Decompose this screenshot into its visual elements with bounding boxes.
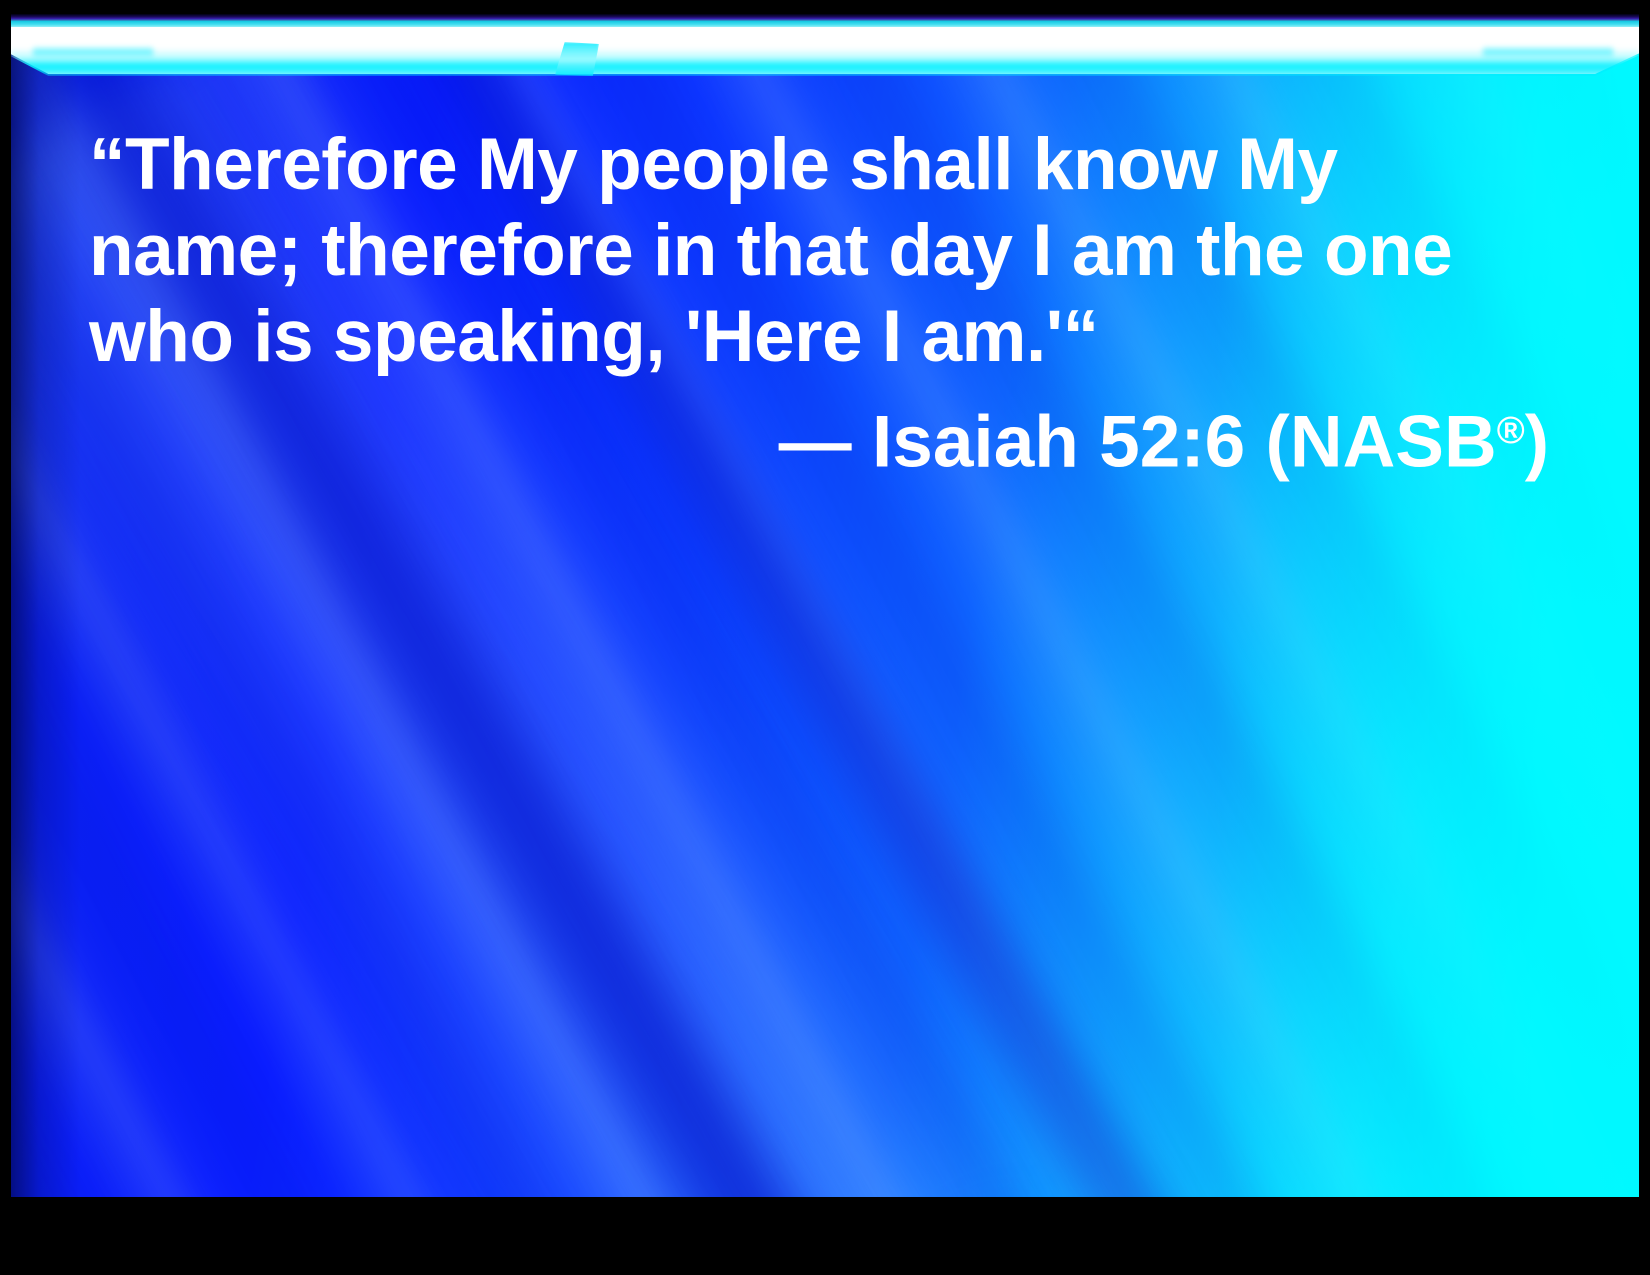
verse-line-1: “Therefore My people shall know My xyxy=(89,122,1549,208)
background-left-shade xyxy=(11,14,81,1197)
frame-left-edge xyxy=(0,0,11,1275)
top-bar-wisp-right xyxy=(1483,48,1613,56)
top-bar-cyan-underglow xyxy=(11,27,1639,76)
top-bar-wisp-left xyxy=(33,48,153,56)
frame-bottom-edge xyxy=(0,1197,1650,1275)
top-glow-bar xyxy=(11,14,1639,86)
verse-slide: “Therefore My people shall know My name;… xyxy=(0,0,1650,1275)
verse-text-block: “Therefore My people shall know My name;… xyxy=(89,122,1549,486)
attribution-dash: — xyxy=(779,402,872,483)
verse-line-3: who is speaking, 'Here I am.'“ xyxy=(89,294,1549,380)
artwork-panel: “Therefore My people shall know My name;… xyxy=(11,14,1639,1197)
registered-trademark-icon: ® xyxy=(1497,410,1525,452)
frame-right-edge xyxy=(1639,0,1650,1275)
attribution-reference: Isaiah 52:6 (NASB xyxy=(872,402,1497,483)
verse-attribution: — Isaiah 52:6 (NASB®) xyxy=(89,388,1549,486)
frame-top-edge xyxy=(0,0,1650,14)
attribution-closing-paren: ) xyxy=(1525,402,1549,483)
verse-line-2: name; therefore in that day I am the one xyxy=(89,208,1549,294)
